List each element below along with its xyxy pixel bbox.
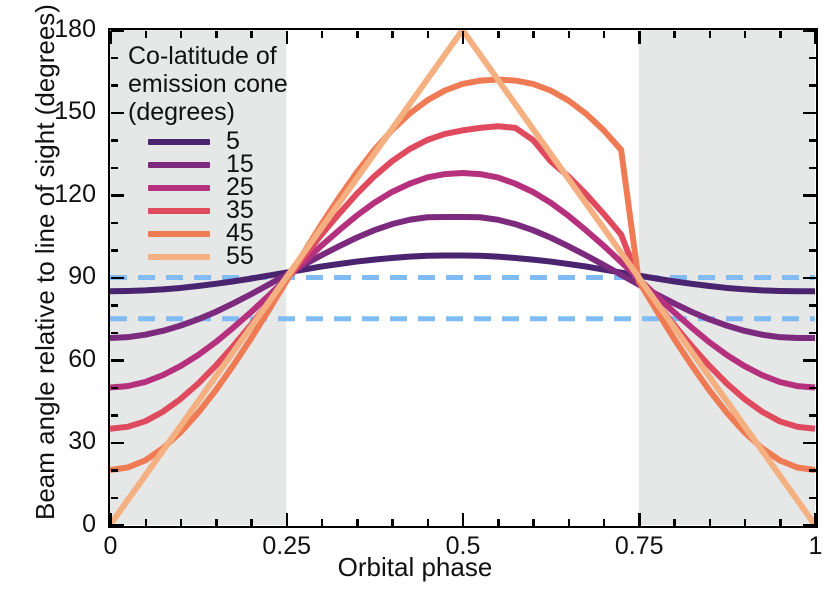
y-tick-label: 30 [0, 427, 96, 456]
x-tick-minor-top [250, 31, 253, 38]
y-tick-major [111, 442, 124, 445]
x-tick-minor [673, 519, 676, 526]
y-tick-major-right [803, 112, 816, 115]
y-tick-minor-right [809, 222, 816, 225]
y-tick-minor [111, 84, 118, 87]
x-tick-minor-top [391, 31, 394, 38]
y-tick-major-right [803, 359, 816, 362]
x-tick-minor [180, 519, 183, 526]
x-tick-minor-top [321, 31, 324, 38]
y-tick-label: 150 [0, 97, 96, 126]
y-tick-major [111, 29, 124, 32]
y-tick-label: 180 [0, 15, 96, 44]
legend-swatch-55 [148, 254, 210, 260]
y-tick-major-right [803, 194, 816, 197]
y-tick-major [111, 524, 124, 527]
y-tick-major-right [803, 277, 816, 280]
x-tick-minor-top [427, 31, 430, 38]
x-tick-major [462, 513, 465, 526]
y-tick-minor-right [809, 304, 816, 307]
chart-container: Beam angle relative to line of sight (de… [0, 0, 830, 593]
y-tick-minor [111, 139, 118, 142]
y-tick-label: 60 [0, 345, 96, 374]
chart-legend: Co-latitude of emission cone (degrees) 5… [128, 42, 358, 268]
legend-entries: 51525354555 [128, 130, 358, 268]
y-tick-minor-right [809, 332, 816, 335]
x-tick-minor-top [356, 31, 359, 38]
y-tick-major-right [803, 524, 816, 527]
x-tick-minor [709, 519, 712, 526]
y-tick-major-right [803, 29, 816, 32]
x-tick-minor-top [497, 31, 500, 38]
x-axis-title: Orbital phase [0, 552, 830, 583]
y-tick-minor-right [809, 57, 816, 60]
y-tick-major [111, 277, 124, 280]
y-tick-major [111, 359, 124, 362]
x-tick-minor [497, 519, 500, 526]
x-tick-minor-top [180, 31, 183, 38]
x-tick-minor [321, 519, 324, 526]
y-tick-minor [111, 222, 118, 225]
y-tick-major [111, 194, 124, 197]
y-tick-minor-right [809, 387, 816, 390]
x-tick-minor [215, 519, 218, 526]
x-tick-minor-top [532, 31, 535, 38]
y-tick-minor-right [809, 469, 816, 472]
y-tick-minor [111, 497, 118, 500]
y-tick-label: 0 [0, 510, 96, 539]
y-tick-minor [111, 387, 118, 390]
x-tick-major-top [462, 31, 465, 44]
y-tick-minor [111, 249, 118, 252]
legend-swatch-45 [148, 231, 210, 237]
x-tick-minor [145, 519, 148, 526]
y-tick-minor [111, 414, 118, 417]
legend-swatch-15 [148, 162, 210, 168]
x-tick-minor [427, 519, 430, 526]
y-tick-minor-right [809, 139, 816, 142]
y-tick-major-right [803, 442, 816, 445]
legend-entry-55: 55 [128, 245, 358, 268]
x-tick-major-top [109, 31, 112, 44]
y-tick-minor-right [809, 497, 816, 500]
x-tick-minor-top [709, 31, 712, 38]
y-tick-minor [111, 304, 118, 307]
y-tick-minor [111, 469, 118, 472]
x-tick-minor [568, 519, 571, 526]
y-tick-minor [111, 167, 118, 170]
x-tick-minor-top [673, 31, 676, 38]
legend-title: Co-latitude of emission cone (degrees) [128, 42, 358, 126]
x-tick-minor [391, 519, 394, 526]
x-tick-major-top [638, 31, 641, 44]
x-tick-minor [532, 519, 535, 526]
x-tick-minor-top [215, 31, 218, 38]
y-tick-label: 90 [0, 262, 96, 291]
legend-label-55: 55 [226, 244, 254, 269]
y-tick-minor-right [809, 249, 816, 252]
y-tick-minor [111, 57, 118, 60]
x-tick-minor [603, 519, 606, 526]
y-tick-label: 120 [0, 180, 96, 209]
x-tick-minor-top [603, 31, 606, 38]
x-tick-minor-top [145, 31, 148, 38]
x-tick-minor [779, 519, 782, 526]
x-tick-major [286, 513, 289, 526]
x-tick-minor [744, 519, 747, 526]
y-tick-minor-right [809, 167, 816, 170]
x-tick-minor [356, 519, 359, 526]
y-tick-major [111, 112, 124, 115]
legend-swatch-35 [148, 208, 210, 214]
x-tick-minor-top [744, 31, 747, 38]
x-tick-minor-top [568, 31, 571, 38]
x-tick-minor-top [779, 31, 782, 38]
x-tick-minor [250, 519, 253, 526]
y-tick-minor-right [809, 414, 816, 417]
y-tick-minor-right [809, 84, 816, 87]
legend-swatch-5 [148, 139, 210, 145]
x-tick-major [638, 513, 641, 526]
x-tick-major-top [814, 31, 817, 44]
legend-swatch-25 [148, 185, 210, 191]
y-tick-minor [111, 332, 118, 335]
